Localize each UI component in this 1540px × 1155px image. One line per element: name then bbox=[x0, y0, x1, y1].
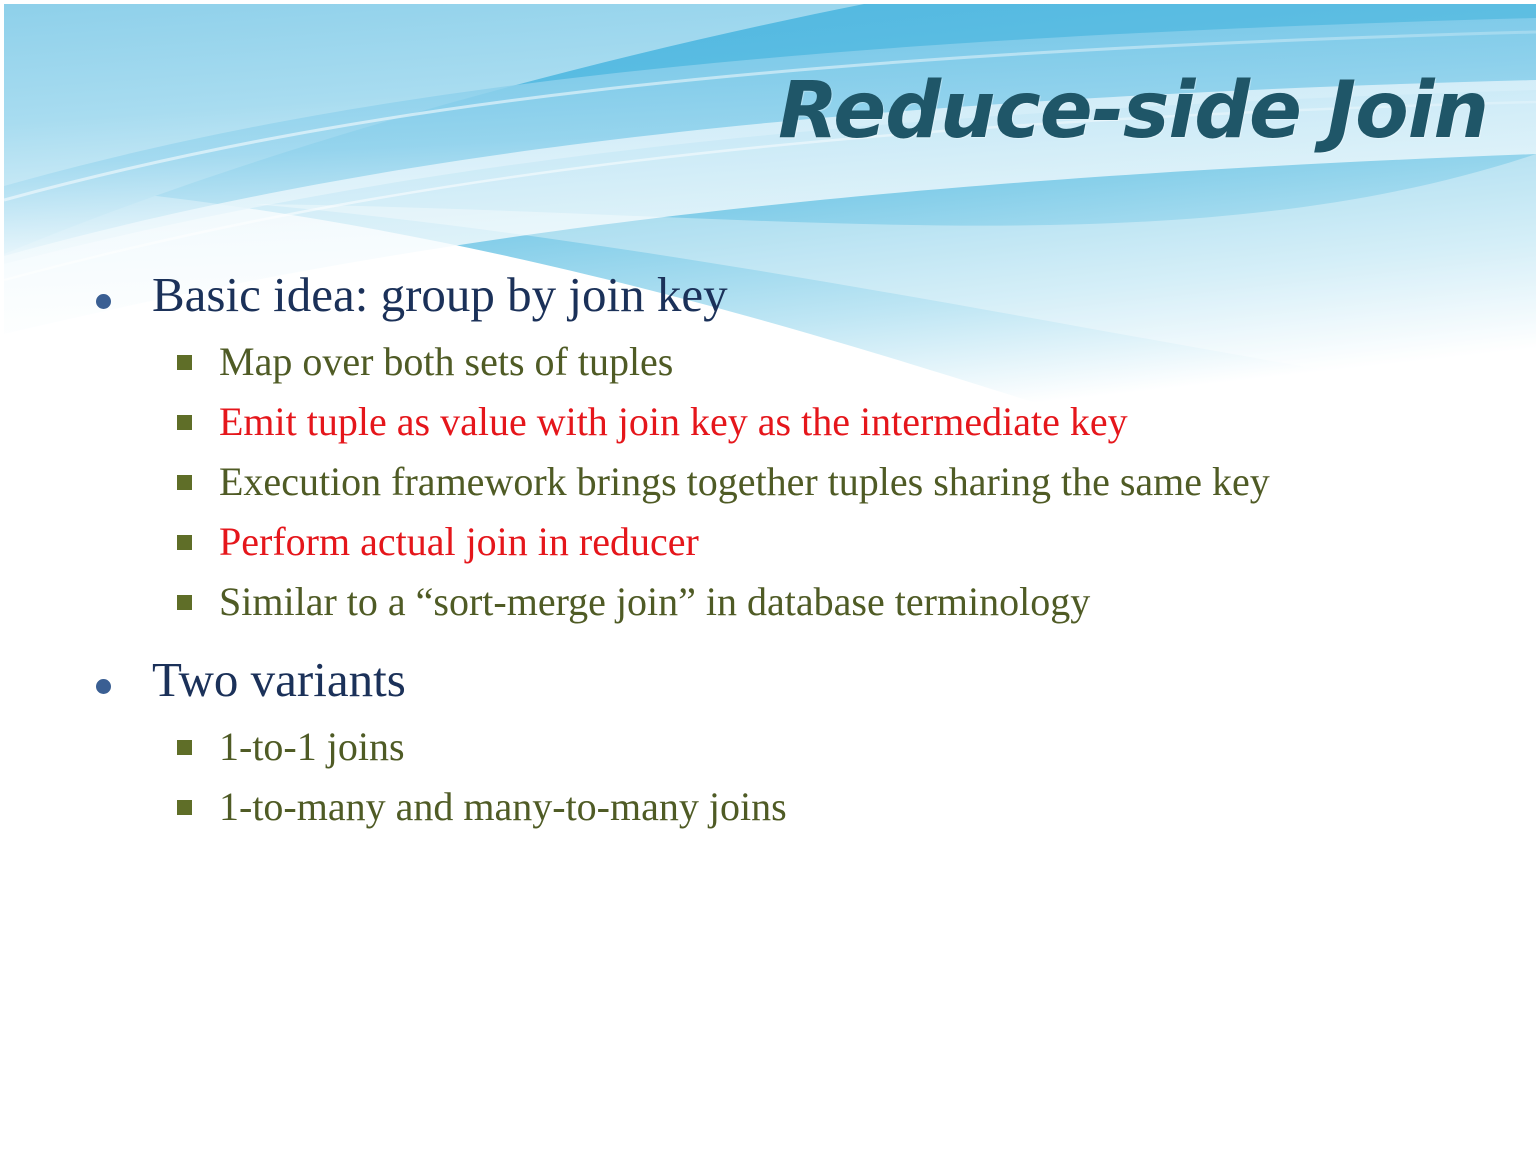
bullet-level2: Execution framework brings together tupl… bbox=[0, 455, 1540, 509]
spacer bbox=[0, 710, 1540, 720]
bullet-level2: 1-to-many and many-to-many joins bbox=[0, 780, 1540, 834]
slide: Reduce-side Join Basic idea: group by jo… bbox=[0, 0, 1540, 1155]
bullet-square-icon bbox=[177, 595, 192, 610]
bullet-level2: Perform actual join in reducer bbox=[0, 515, 1540, 569]
bullet-square-icon bbox=[177, 475, 192, 490]
bullet-text: 1-to-1 joins bbox=[219, 724, 405, 769]
bullet-level2: 1-to-1 joins bbox=[0, 720, 1540, 774]
bullet-text: Emit tuple as value with join key as the… bbox=[219, 399, 1128, 444]
bullet-square-icon bbox=[177, 415, 192, 430]
bullet-dot-icon bbox=[96, 294, 111, 309]
bullet-level2: Emit tuple as value with join key as the… bbox=[0, 395, 1540, 449]
bullet-text: Perform actual join in reducer bbox=[219, 519, 699, 564]
bullet-text: Similar to a “sort-merge join” in databa… bbox=[219, 579, 1090, 624]
bullet-square-icon bbox=[177, 535, 192, 550]
bullet-dot-icon bbox=[96, 679, 111, 694]
bullet-text: 1-to-many and many-to-many joins bbox=[219, 784, 787, 829]
bullet-square-icon bbox=[177, 355, 192, 370]
bullet-level1: Two variants bbox=[0, 653, 1540, 708]
bullet-level2: Map over both sets of tuples bbox=[0, 335, 1540, 389]
bullet-level2: Similar to a “sort-merge join” in databa… bbox=[0, 575, 1540, 629]
bullet-text: Two variants bbox=[152, 652, 406, 707]
bullet-level1: Basic idea: group by join key bbox=[0, 268, 1540, 323]
slide-body: Basic idea: group by join key Map over b… bbox=[0, 268, 1540, 840]
bullet-text: Execution framework brings together tupl… bbox=[219, 459, 1270, 504]
bullet-text: Basic idea: group by join key bbox=[152, 267, 728, 322]
page-title: Reduce-side Join bbox=[778, 66, 1488, 156]
bullet-square-icon bbox=[177, 740, 192, 755]
spacer bbox=[0, 325, 1540, 335]
spacer bbox=[0, 635, 1540, 653]
bullet-text: Map over both sets of tuples bbox=[219, 339, 673, 384]
bullet-square-icon bbox=[177, 800, 192, 815]
